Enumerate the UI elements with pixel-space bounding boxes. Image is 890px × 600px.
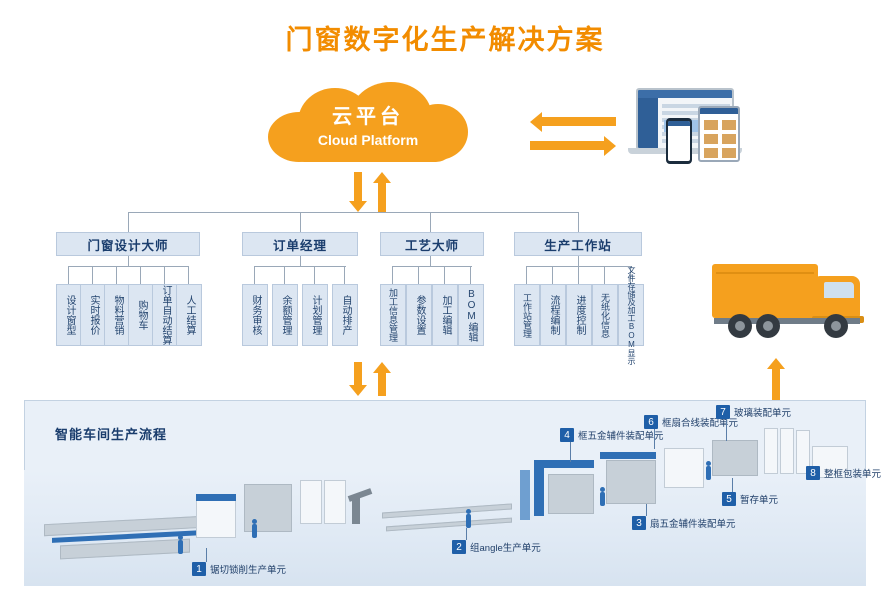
machine-block <box>534 460 594 468</box>
module-leaf-design-4[interactable]: 订单自动结算 <box>152 284 178 346</box>
station-number: 4 <box>560 428 574 442</box>
module-header-workstation[interactable]: 生产工作站 <box>514 232 642 256</box>
station-number: 8 <box>806 466 820 480</box>
station-label: 组angle生产单元 <box>470 540 541 554</box>
station-number: 6 <box>644 415 658 429</box>
module-leaf-design-5[interactable]: 人工结算 <box>176 284 202 346</box>
module-leaf-design-2[interactable]: 物料营销 <box>104 284 130 346</box>
workshop-title: 智能车间生产流程 <box>55 424 167 443</box>
leaf-label: 财务审核 <box>249 295 261 335</box>
arrow-right-icon <box>530 136 616 156</box>
cloud-label-en: Cloud Platform <box>318 132 418 148</box>
station-label: 扇五金辅件装配单元 <box>650 516 736 530</box>
module-stem <box>578 256 579 266</box>
worker-figure <box>600 492 605 506</box>
arrow-up-icon <box>372 362 392 396</box>
station-label: 暂存单元 <box>740 492 778 506</box>
connector-drop <box>128 212 129 232</box>
module-leaf-design-0[interactable]: 设计窗型 <box>56 284 82 346</box>
leaf-stem <box>92 266 93 284</box>
leaf-stem <box>164 266 165 284</box>
leaf-label: 设计窗型 <box>63 295 75 335</box>
station-callout-1: 1 锯切锁削生产单元 <box>192 562 286 576</box>
leaf-stem <box>188 266 189 284</box>
leaf-label: 参数设置 <box>413 295 425 335</box>
module-leaf-craft-2[interactable]: 加工编辑 <box>432 284 458 346</box>
station-callout-3: 3 扇五金辅件装配单元 <box>632 516 736 530</box>
leaf-stem <box>68 266 69 284</box>
cloud-label-group: 云平台 Cloud Platform <box>268 82 468 162</box>
leaf-stem <box>418 266 419 284</box>
leaf-stem <box>552 266 553 284</box>
leaf-label: 文件存储及加工BOM显示 <box>625 266 637 365</box>
page-title: 门窗数字化生产解决方案 <box>0 18 890 57</box>
module-leaf-craft-3[interactable]: BOM编辑 <box>458 284 484 346</box>
leaf-stem <box>604 266 605 284</box>
machine-block <box>324 480 346 524</box>
module-leaf-ws-0[interactable]: 工作站管理 <box>514 284 540 346</box>
connector-drop <box>300 212 301 232</box>
station-number: 3 <box>632 516 646 530</box>
module-rail <box>68 266 188 267</box>
leaf-stem <box>140 266 141 284</box>
leaf-stem <box>284 266 285 284</box>
module-leaf-order-3[interactable]: 自动排产 <box>332 284 358 346</box>
machine-block <box>300 480 322 524</box>
worker-figure <box>706 466 711 480</box>
machine-block <box>534 468 544 516</box>
leaf-stem <box>344 266 345 284</box>
worker-figure <box>178 540 183 554</box>
leaf-label: 加工编辑 <box>439 295 451 335</box>
station-label: 玻璃装配单元 <box>734 405 791 419</box>
leaf-label: 无纸化信息 <box>599 293 611 338</box>
leaf-stem <box>444 266 445 284</box>
leaf-label: 订单自动结算 <box>159 285 171 345</box>
leaf-stem <box>578 266 579 284</box>
leaf-label: 物料营销 <box>111 295 123 335</box>
callout-leader <box>570 442 571 462</box>
glass-rack <box>764 428 778 474</box>
phone-icon <box>666 118 692 164</box>
module-stem <box>128 256 129 266</box>
leaf-label: 人工结算 <box>183 295 195 335</box>
machine-block <box>606 460 656 504</box>
machine-block <box>548 474 594 514</box>
module-stem <box>430 256 431 266</box>
callout-leader <box>466 528 467 540</box>
worker-figure <box>466 514 471 528</box>
station-callout-2: 2 组angle生产单元 <box>452 540 541 554</box>
station-label: 框五金辅件装配单元 <box>578 428 664 442</box>
glass-rack <box>780 428 794 474</box>
station-number: 1 <box>192 562 206 576</box>
station-number: 2 <box>452 540 466 554</box>
connector-drop <box>430 212 431 232</box>
module-leaf-order-2[interactable]: 计划管理 <box>302 284 328 346</box>
arrow-down-icon <box>348 362 368 396</box>
module-header-craft[interactable]: 工艺大师 <box>380 232 484 256</box>
diagram-canvas: 门窗数字化生产解决方案 云平台 Cloud Platform <box>0 0 890 600</box>
devices-illustration <box>636 88 756 168</box>
module-leaf-craft-1[interactable]: 参数设置 <box>406 284 432 346</box>
connector-drop <box>578 212 579 232</box>
module-rail <box>254 266 346 267</box>
leaf-label: 加工信息管理 <box>387 288 399 342</box>
module-rail <box>392 266 472 267</box>
cloud-label-cn: 云平台 <box>332 100 404 129</box>
leaf-label: 余额管理 <box>279 295 291 335</box>
leaf-stem <box>526 266 527 284</box>
module-stem <box>300 256 301 266</box>
module-leaf-order-0[interactable]: 财务审核 <box>242 284 268 346</box>
tablet-icon <box>698 106 740 162</box>
module-leaf-ws-4[interactable]: 文件存储及加工BOM显示 <box>618 284 644 346</box>
module-leaf-craft-0[interactable]: 加工信息管理 <box>380 284 406 346</box>
callout-leader <box>206 548 207 562</box>
worker-figure <box>252 524 257 538</box>
module-header-design[interactable]: 门窗设计大师 <box>56 232 200 256</box>
station-label: 整框包装单元 <box>824 466 881 480</box>
callout-leader <box>646 504 647 516</box>
leaf-stem <box>470 266 471 284</box>
station-number: 7 <box>716 405 730 419</box>
module-leaf-ws-2[interactable]: 进度控制 <box>566 284 592 346</box>
leaf-label: 实时报价 <box>87 295 99 335</box>
machine-block <box>664 448 704 488</box>
leaf-stem <box>392 266 393 284</box>
leaf-label: 工作站管理 <box>521 293 533 338</box>
arrow-down-icon <box>348 172 368 212</box>
station-callout-5: 5 暂存单元 <box>722 492 778 506</box>
robot-arm <box>352 498 360 524</box>
module-leaf-ws-1[interactable]: 流程编制 <box>540 284 566 346</box>
arrow-up-icon <box>372 172 392 212</box>
arrow-left-icon <box>530 112 616 132</box>
leaf-label: 流程编制 <box>547 295 559 335</box>
leaf-stem <box>314 266 315 284</box>
leaf-label: 自动排产 <box>339 295 351 335</box>
module-leaf-order-1[interactable]: 余额管理 <box>272 284 298 346</box>
station-callout-7: 7 玻璃装配单元 <box>716 405 791 419</box>
callout-leader <box>654 429 655 449</box>
module-header-order[interactable]: 订单经理 <box>242 232 358 256</box>
leaf-label: BOM编辑 <box>465 289 477 342</box>
station-callout-4: 4 框五金辅件装配单元 <box>560 428 664 442</box>
module-leaf-design-1[interactable]: 实时报价 <box>80 284 106 346</box>
machine-block <box>712 440 758 476</box>
module-leaf-design-3[interactable]: 购物车 <box>128 284 154 346</box>
leaf-label: 进度控制 <box>573 295 585 335</box>
leaf-stem <box>116 266 117 284</box>
callout-leader <box>732 478 733 492</box>
leaf-label: 计划管理 <box>309 295 321 335</box>
machine-block <box>196 494 236 501</box>
machine-block <box>520 470 530 520</box>
station-label: 锯切锁削生产单元 <box>210 562 286 576</box>
station-number: 5 <box>722 492 736 506</box>
machine-block <box>600 452 656 459</box>
leaf-label: 购物车 <box>135 300 147 330</box>
module-leaf-ws-3[interactable]: 无纸化信息 <box>592 284 618 346</box>
arrow-up-icon <box>766 358 786 402</box>
connector-bus <box>128 212 578 213</box>
callout-leader <box>726 419 727 441</box>
leaf-stem <box>254 266 255 284</box>
station-callout-8: 8 整框包装单元 <box>806 466 881 480</box>
cloud-platform-node: 云平台 Cloud Platform <box>268 82 468 162</box>
delivery-truck-icon <box>712 258 878 350</box>
